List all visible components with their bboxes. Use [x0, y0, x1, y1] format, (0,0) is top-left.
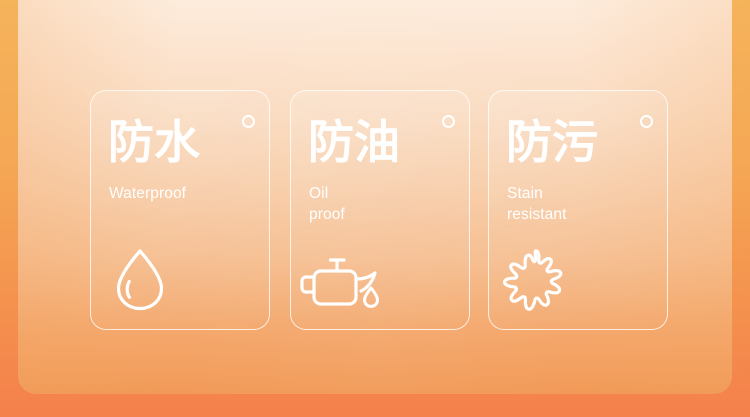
feature-card-waterproof[interactable]: 防水 Waterproof — [90, 90, 270, 330]
card-en-title-line1: Stain — [507, 185, 543, 202]
card-en-title: Oil proof — [309, 183, 345, 225]
card-en-title-line2: resistant — [507, 206, 566, 223]
feature-card-list: 防水 Waterproof 防油 Oil proof — [0, 0, 750, 417]
circle-marker-icon — [640, 115, 653, 128]
water-drop-icon — [105, 245, 175, 315]
card-cn-title: 防水 — [108, 117, 200, 167]
feature-card-stain-resistant[interactable]: 防污 Stain resistant — [488, 90, 668, 330]
stain-splat-icon — [501, 247, 573, 315]
oil-can-icon — [299, 255, 385, 317]
card-en-title: Waterproof — [109, 183, 186, 204]
banner-stage: 防水 Waterproof 防油 Oil proof — [0, 0, 750, 417]
circle-marker-icon — [442, 115, 455, 128]
card-en-title-line2: proof — [309, 206, 345, 223]
card-en-title: Stain resistant — [507, 183, 566, 225]
card-cn-title: 防油 — [308, 117, 400, 167]
card-en-title-line1: Oil — [309, 185, 328, 202]
circle-marker-icon — [242, 115, 255, 128]
feature-card-oilproof[interactable]: 防油 Oil proof — [290, 90, 470, 330]
card-cn-title: 防污 — [506, 117, 598, 167]
